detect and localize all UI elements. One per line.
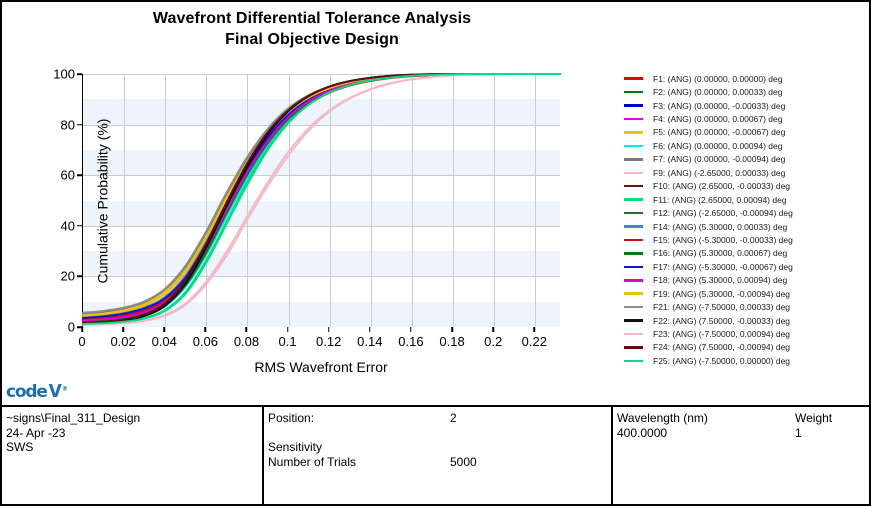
legend-item[interactable]: F16: (ANG) (5.30000, 0.00067) deg <box>624 247 868 260</box>
x-tick-label: 0.18 <box>439 334 464 349</box>
legend-item[interactable]: F2: (ANG) (0.00000, 0.00033) deg <box>624 85 868 98</box>
legend-item[interactable]: F25: (ANG) (-7.50000, 0.00000) deg <box>624 354 868 367</box>
legend-item-label: F22: (ANG) (7.50000, -0.00033) deg <box>653 316 790 326</box>
curve-line <box>83 74 560 324</box>
curve-line <box>83 74 560 322</box>
y-tick-label: 80 <box>61 117 75 132</box>
legend-color-swatch <box>624 306 643 309</box>
y-tick-label: 40 <box>61 218 75 233</box>
legend-item-label: F21: (ANG) (-7.50000, 0.00033) deg <box>653 302 790 312</box>
x-tick-mark <box>534 327 536 332</box>
legend-item[interactable]: F17: (ANG) (-5.30000, -0.00067) deg <box>624 260 868 273</box>
x-tick-label: 0.22 <box>522 334 547 349</box>
curve-line <box>83 74 560 323</box>
curve-line <box>83 74 560 319</box>
logo-text-code: code <box>6 382 47 402</box>
legend-item-label: F3: (ANG) (0.00000, -0.00033) deg <box>653 101 785 111</box>
curve-line <box>83 74 560 322</box>
y-tick-label: 20 <box>61 269 75 284</box>
legend-color-swatch <box>624 225 643 228</box>
footer-sensitivity-row: Sensitivity <box>268 440 611 455</box>
legend-color-swatch <box>624 131 643 134</box>
x-tick-label: 0.02 <box>110 334 135 349</box>
legend-color-swatch <box>624 319 643 322</box>
legend-item-label: F9: (ANG) (-2.65000, 0.00033) deg <box>653 168 785 178</box>
title-line-2: Final Objective Design <box>2 29 622 50</box>
legend-color-swatch <box>624 239 643 242</box>
footer-column-analysis-info: Position: 2 Sensitivity Number of Trials… <box>262 407 611 504</box>
x-tick-label: 0.08 <box>234 334 259 349</box>
x-tick-label: 0 <box>78 334 85 349</box>
x-axis-title: RMS Wavefront Error <box>82 359 560 375</box>
footer-weight-value: 1 <box>795 426 802 441</box>
legend-color-swatch <box>624 77 643 80</box>
curve-line <box>83 74 560 320</box>
x-tick-label: 0.16 <box>398 334 423 349</box>
x-tick-mark <box>451 327 453 332</box>
footer-column-file-info: ~signs\Final_311_Design 24- Apr -23 SWS <box>2 407 262 504</box>
chart-legend: F1: (ANG) (0.00000, 0.00000) degF2: (ANG… <box>624 72 868 368</box>
footer-position-label: Position: <box>268 411 314 426</box>
curve-line <box>83 74 560 323</box>
legend-item[interactable]: F14: (ANG) (5.30000, 0.00033) deg <box>624 220 868 233</box>
legend-item-label: F23: (ANG) (-7.50000, 0.00094) deg <box>653 329 790 339</box>
curve-line <box>83 74 560 321</box>
legend-color-swatch <box>624 198 643 201</box>
legend-item[interactable]: F24: (ANG) (7.50000, -0.00094) deg <box>624 341 868 354</box>
curve-line <box>83 74 560 325</box>
legend-item-label: F15: (ANG) (-5.30000, -0.00033) deg <box>653 235 793 245</box>
legend-color-swatch <box>624 118 643 121</box>
legend-item[interactable]: F1: (ANG) (0.00000, 0.00000) deg <box>624 72 868 85</box>
legend-item[interactable]: F5: (ANG) (0.00000, -0.00067) deg <box>624 126 868 139</box>
legend-item[interactable]: F21: (ANG) (-7.50000, 0.00033) deg <box>624 300 868 313</box>
chart: 020406080100 00.020.040.060.080.10.120.1… <box>82 74 560 327</box>
curve-line <box>83 74 560 322</box>
footer-weight-header: Weight <box>795 411 832 426</box>
legend-item[interactable]: F12: (ANG) (-2.65000, -0.00094) deg <box>624 206 868 219</box>
legend-item-label: F5: (ANG) (0.00000, -0.00067) deg <box>653 127 785 137</box>
y-tick-mark <box>77 225 82 227</box>
footer-wavelength-value: 400.0000 <box>617 426 667 441</box>
curve-line <box>83 74 560 321</box>
x-tick-label: 0.04 <box>152 334 177 349</box>
x-tick-mark <box>163 327 165 332</box>
legend-item[interactable]: F10: (ANG) (2.65000, -0.00033) deg <box>624 180 868 193</box>
y-tick-label: 100 <box>53 67 75 82</box>
y-tick-mark <box>77 174 82 176</box>
page-title: Wavefront Differential Tolerance Analysi… <box>2 8 622 50</box>
curve-line <box>83 74 560 318</box>
legend-item[interactable]: F11: (ANG) (2.65000, 0.00094) deg <box>624 193 868 206</box>
curve-line <box>83 74 560 318</box>
curve-line <box>83 74 560 313</box>
legend-item-label: F1: (ANG) (0.00000, 0.00000) deg <box>653 74 782 84</box>
x-tick-mark <box>205 327 207 332</box>
x-tick-label: 0.12 <box>316 334 341 349</box>
footer-initials: SWS <box>6 440 262 455</box>
legend-item-label: F10: (ANG) (2.65000, -0.00033) deg <box>653 181 790 191</box>
legend-item-label: F7: (ANG) (0.00000, -0.00094) deg <box>653 154 785 164</box>
legend-item-label: F17: (ANG) (-5.30000, -0.00067) deg <box>653 262 793 272</box>
legend-color-swatch <box>624 346 643 349</box>
legend-item-label: F16: (ANG) (5.30000, 0.00067) deg <box>653 248 787 258</box>
y-tick-label: 0 <box>68 320 75 335</box>
x-tick-label: 0.1 <box>279 334 297 349</box>
x-tick-mark <box>81 327 83 332</box>
y-tick-label: 60 <box>61 168 75 183</box>
footer-trials-row: Number of Trials 5000 <box>268 455 611 470</box>
y-tick-mark <box>77 276 82 278</box>
legend-color-swatch <box>624 91 643 94</box>
legend-color-swatch <box>624 185 643 188</box>
footer-wavelength-header: Wavelength (nm) <box>617 411 708 426</box>
legend-item[interactable]: F6: (ANG) (0.00000, 0.00094) deg <box>624 139 868 152</box>
x-tick-mark <box>122 327 124 332</box>
legend-color-swatch <box>624 279 643 282</box>
footer-date: 24- Apr -23 <box>6 426 262 441</box>
legend-color-swatch <box>624 158 643 161</box>
legend-item[interactable]: F7: (ANG) (0.00000, -0.00094) deg <box>624 153 868 166</box>
footer-wavelength-value-row: 400.0000 1 <box>617 426 869 441</box>
legend-item-label: F4: (ANG) (0.00000, 0.00067) deg <box>653 114 782 124</box>
x-tick-label: 0.14 <box>357 334 382 349</box>
codev-logo: codeV® <box>6 382 68 402</box>
x-tick-label: 0.2 <box>484 334 502 349</box>
plot-frame <box>82 74 560 327</box>
curve-line <box>83 74 560 316</box>
x-tick-mark <box>369 327 371 332</box>
legend-item-label: F25: (ANG) (-7.50000, 0.00000) deg <box>653 356 790 366</box>
footer-sensitivity-label: Sensitivity <box>268 440 322 455</box>
legend-item-label: F18: (ANG) (5.30000, 0.00094) deg <box>653 275 787 285</box>
curve-line <box>83 74 560 323</box>
footer-position-row: Position: 2 <box>268 411 611 426</box>
logo-text-v: V <box>49 382 62 402</box>
footer-position-value: 2 <box>450 411 457 426</box>
legend-color-swatch <box>624 172 643 175</box>
x-tick-mark <box>246 327 248 332</box>
legend-item-label: F11: (ANG) (2.65000, 0.00094) deg <box>653 195 787 205</box>
curve-series-layer <box>83 74 560 326</box>
curve-line <box>83 74 560 324</box>
curve-line <box>83 74 560 317</box>
y-tick-mark <box>77 73 82 75</box>
curve-line <box>83 74 560 313</box>
legend-item-label: F14: (ANG) (5.30000, 0.00033) deg <box>653 222 787 232</box>
title-line-1: Wavefront Differential Tolerance Analysi… <box>2 8 622 29</box>
curve-line <box>83 74 560 325</box>
legend-item-label: F19: (ANG) (5.30000, -0.00094) deg <box>653 289 790 299</box>
legend-color-swatch <box>624 212 643 215</box>
x-tick-label: 0.06 <box>193 334 218 349</box>
legend-color-swatch <box>624 104 643 107</box>
x-tick-mark <box>287 327 289 332</box>
legend-item[interactable]: F22: (ANG) (7.50000, -0.00033) deg <box>624 314 868 327</box>
logo-bar: codeV® <box>2 381 869 405</box>
y-tick-mark <box>77 124 82 126</box>
legend-item[interactable]: F4: (ANG) (0.00000, 0.00067) deg <box>624 112 868 125</box>
legend-item[interactable]: F19: (ANG) (5.30000, -0.00094) deg <box>624 287 868 300</box>
curve-line <box>83 74 560 315</box>
footer-wavelength-header-row: Wavelength (nm) Weight <box>617 411 869 426</box>
footer-trials-label: Number of Trials <box>268 455 356 470</box>
legend-item[interactable]: F23: (ANG) (-7.50000, 0.00094) deg <box>624 327 868 340</box>
legend-color-swatch <box>624 266 643 269</box>
y-axis-title: Cumulative Probability (%) <box>94 118 110 283</box>
footer-file-path: ~signs\Final_311_Design <box>6 411 262 426</box>
legend-item-label: F6: (ANG) (0.00000, 0.00094) deg <box>653 141 782 151</box>
legend-item[interactable]: F15: (ANG) (-5.30000, -0.00033) deg <box>624 233 868 246</box>
legend-item-label: F2: (ANG) (0.00000, 0.00033) deg <box>653 87 782 97</box>
footer-info-table: ~signs\Final_311_Design 24- Apr -23 SWS … <box>2 405 869 504</box>
legend-color-swatch <box>624 360 643 363</box>
footer-spacer <box>268 426 611 441</box>
codev-tolerance-plot-page: Wavefront Differential Tolerance Analysi… <box>0 0 871 506</box>
legend-color-swatch <box>624 292 643 295</box>
x-tick-mark <box>492 327 494 332</box>
legend-item-label: F12: (ANG) (-2.65000, -0.00094) deg <box>653 208 793 218</box>
logo-registered-mark: ® <box>62 385 68 392</box>
legend-item[interactable]: F3: (ANG) (0.00000, -0.00033) deg <box>624 99 868 112</box>
legend-item-label: F24: (ANG) (7.50000, -0.00094) deg <box>653 342 790 352</box>
footer-column-wavelength-info: Wavelength (nm) Weight 400.0000 1 <box>611 407 869 504</box>
legend-item[interactable]: F9: (ANG) (-2.65000, 0.00033) deg <box>624 166 868 179</box>
curve-line <box>83 74 560 320</box>
x-tick-mark <box>410 327 412 332</box>
legend-color-swatch <box>624 145 643 148</box>
legend-color-swatch <box>624 333 643 336</box>
legend-item[interactable]: F18: (ANG) (5.30000, 0.00094) deg <box>624 274 868 287</box>
legend-color-swatch <box>624 252 643 255</box>
x-tick-mark <box>328 327 330 332</box>
footer-trials-value: 5000 <box>450 455 477 470</box>
